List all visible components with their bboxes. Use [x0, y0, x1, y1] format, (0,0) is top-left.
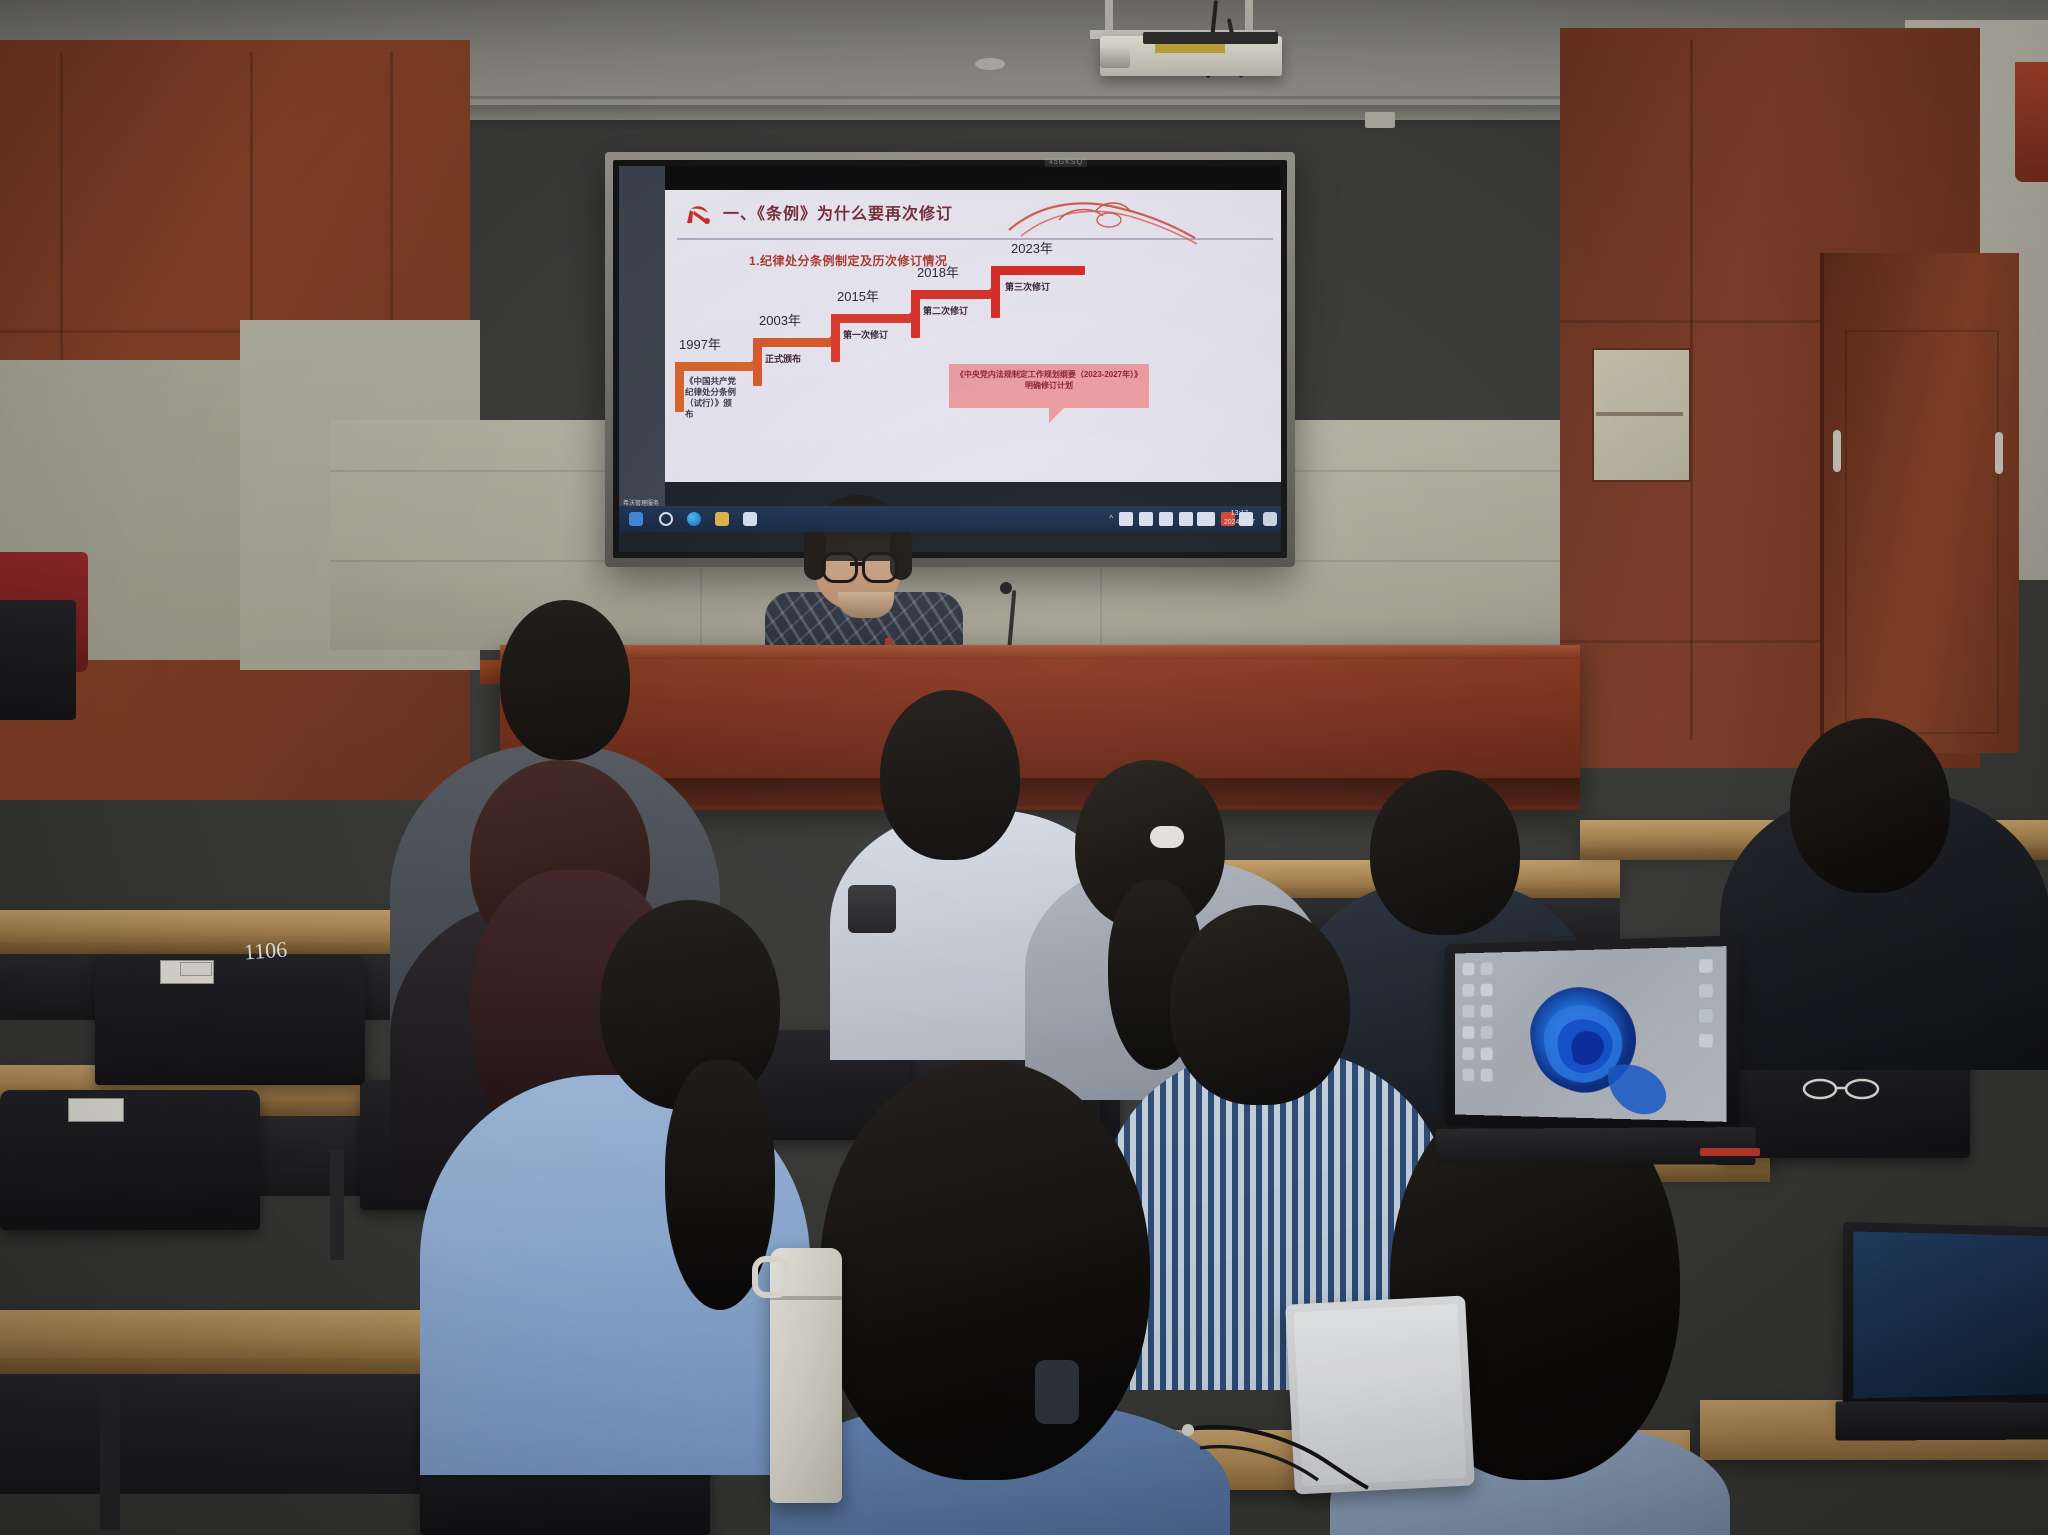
lecturer-collar — [838, 592, 894, 618]
slide-callout-text: 《中央党内法规制定工作规划纲要（2023-2027年）》明确修订计划 — [955, 369, 1143, 391]
desk-front-panel — [0, 1374, 470, 1494]
network-icon[interactable] — [1139, 512, 1153, 526]
desktop-icon[interactable] — [1462, 1047, 1474, 1060]
slide-callout-tail — [1049, 407, 1065, 423]
projector-lens — [1100, 48, 1130, 68]
desktop-icon[interactable] — [1699, 1009, 1713, 1023]
laptop-sticker — [1700, 1148, 1760, 1156]
edge-icon[interactable] — [687, 512, 701, 526]
classroom-photo: 45GKSQ 一、《条例》为什么要再次修订 1.纪律处分条例制定及历次修订情况 … — [0, 0, 2048, 1535]
glasses-on-desk-icon — [1800, 1075, 1884, 1101]
desktop-icon[interactable] — [1699, 984, 1713, 998]
letterbox-band — [619, 166, 1281, 190]
smoke-detector-icon — [975, 58, 1005, 70]
door-panel — [1845, 330, 1999, 734]
tray-chevron-icon[interactable]: ^ — [1109, 514, 1113, 523]
slide-heading: 一、《条例》为什么要再次修订 — [723, 200, 953, 224]
clock-time: 13:17 — [1224, 509, 1255, 518]
keyboard-icon[interactable] — [1197, 512, 1215, 526]
student-laptop-screen[interactable] — [1455, 946, 1726, 1122]
chair-tag-text — [180, 962, 212, 976]
ceiling-vent — [1365, 112, 1395, 128]
door-handle[interactable] — [1995, 432, 2003, 474]
seewo-icon[interactable] — [743, 512, 757, 526]
pen-icon[interactable] — [1179, 512, 1193, 526]
desktop-icon[interactable] — [1462, 984, 1474, 997]
student-head — [820, 1060, 1150, 1480]
desktop-icon[interactable] — [1462, 1005, 1474, 1018]
desk-cup — [848, 885, 896, 933]
student-laptop-second-base[interactable] — [1835, 1401, 2048, 1440]
hair-clip — [1035, 1360, 1079, 1424]
party-emblem-icon — [683, 200, 713, 228]
desktop-icon[interactable] — [1481, 1048, 1493, 1061]
desktop-icon[interactable] — [1481, 1069, 1493, 1082]
chair-asset-tag — [68, 1098, 124, 1122]
search-icon[interactable] — [659, 512, 673, 526]
student-chair[interactable] — [0, 1090, 260, 1230]
student-head — [500, 600, 630, 760]
desktop-icon[interactable] — [1481, 1005, 1493, 1018]
left-equipment-box — [0, 600, 76, 720]
clock-date: 2024/5/17 — [1224, 518, 1255, 527]
timeline-year: 1997年 — [679, 334, 721, 353]
timeline-year: 2003年 — [759, 310, 801, 329]
timeline-action: 第一次修订 — [843, 328, 888, 341]
desktop-icon[interactable] — [1699, 1034, 1713, 1048]
chair-number-label: 1106 — [243, 937, 288, 966]
windows-taskbar[interactable]: ^ 13:17 2024/5/17 — [619, 506, 1281, 532]
student-head — [880, 690, 1020, 860]
desktop-icon[interactable] — [1481, 962, 1493, 975]
timeline-action: 第二次修订 — [923, 304, 968, 317]
explorer-icon[interactable] — [715, 512, 729, 526]
projector-top — [1143, 32, 1278, 44]
desktop-icon[interactable] — [1481, 984, 1493, 997]
desk-leg — [330, 1150, 344, 1260]
timeline-year: 2018年 — [917, 262, 959, 281]
timeline-year: 2015年 — [837, 286, 879, 305]
student-desk — [0, 1310, 470, 1362]
seewo-label: 希沃管理服务 — [623, 498, 659, 507]
podium-lip — [500, 645, 1580, 659]
desktop-icon[interactable] — [1699, 959, 1713, 973]
thermos-handle — [752, 1256, 790, 1298]
student-head — [1370, 770, 1520, 935]
student-laptop-base[interactable] — [1436, 1127, 1756, 1165]
volume-icon[interactable] — [1119, 512, 1133, 526]
taskbar-clock[interactable]: 13:17 2024/5/17 — [1224, 509, 1255, 527]
timeline-year: 2023年 — [1011, 238, 1053, 257]
display-screen[interactable]: 一、《条例》为什么要再次修订 1.纪律处分条例制定及历次修订情况 1997年 《… — [619, 166, 1281, 552]
start-icon[interactable] — [629, 512, 643, 526]
desktop-icon[interactable] — [1462, 1026, 1474, 1039]
desk-leg — [100, 1380, 120, 1530]
door-handle[interactable] — [1833, 430, 1841, 472]
desktop-icon[interactable] — [1481, 1026, 1493, 1039]
hair-tie — [1150, 826, 1184, 848]
student-head — [1790, 718, 1950, 893]
timeline-note: 《中国共产党纪律处分条例（试行）》颁布 — [685, 376, 739, 420]
glasses-icon — [822, 552, 858, 583]
timeline-action: 正式颁布 — [765, 352, 801, 365]
glasses-bridge — [850, 562, 864, 566]
bloom-wallpaper-icon — [1503, 954, 1680, 1119]
microphone-icon — [1000, 582, 1012, 594]
student-head — [1170, 905, 1350, 1105]
plaque-line — [1596, 412, 1683, 416]
screen-watermark: 45GKSQ — [1045, 158, 1087, 167]
student-chair[interactable] — [95, 955, 365, 1085]
input-method-icon[interactable] — [1159, 512, 1173, 526]
red-curtain — [2015, 62, 2048, 182]
student-desk — [0, 910, 430, 944]
charging-cable — [1180, 1420, 1370, 1490]
desktop-icon[interactable] — [1462, 1069, 1474, 1082]
student-laptop-second-screen[interactable] — [1853, 1231, 2048, 1398]
letterbox-band — [619, 166, 665, 506]
desktop-icon[interactable] — [1462, 963, 1474, 976]
projector-label — [1155, 44, 1225, 53]
notification-icon[interactable] — [1263, 512, 1277, 526]
timeline-action: 第三次修订 — [1005, 280, 1050, 293]
glasses-icon — [862, 552, 898, 583]
